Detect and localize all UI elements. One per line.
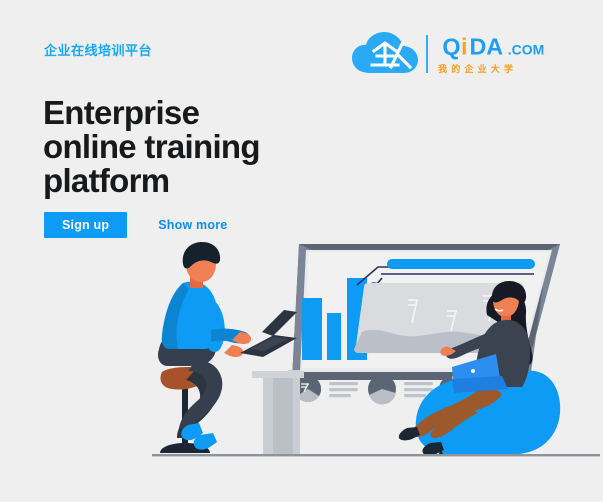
brand-logo[interactable]: Q i DA .COM 我的企业大学 [350, 28, 570, 80]
cta-row: Sign up Show more [44, 212, 227, 238]
logo-wordmark-group: Q i DA .COM 我的企业大学 [438, 33, 570, 75]
logo-divider [426, 35, 428, 73]
bar-1 [302, 298, 322, 360]
logo-subtitle: 我的企业大学 [438, 62, 570, 75]
woman-laptop-logo-icon [471, 369, 475, 373]
promo-banner: 企业在线培训平台 Enterprise online training plat… [0, 0, 603, 502]
svg-text:i: i [461, 33, 467, 59]
podium-body-light [263, 378, 273, 456]
bar-2 [327, 313, 341, 360]
sign-up-button[interactable]: Sign up [44, 212, 127, 238]
man-hand-2 [224, 345, 243, 357]
man-laptop-lid [262, 310, 297, 336]
qida-wordmark: Q i DA .COM [438, 33, 570, 61]
svg-text:DA: DA [469, 33, 503, 59]
header-pill-bar [387, 259, 535, 269]
headline-line-2: online training [43, 130, 323, 164]
headline-line-1: Enterprise [43, 96, 323, 130]
headline-line-3: platform [43, 164, 323, 198]
svg-text:.COM: .COM [508, 41, 545, 57]
svg-text:Q: Q [442, 33, 460, 59]
podium-top [252, 371, 304, 378]
placeholder-lines-1 [329, 382, 358, 397]
floor-line [152, 454, 600, 456]
eyebrow-label: 企业在线培训平台 [44, 40, 152, 59]
show-more-link[interactable]: Show more [158, 218, 227, 232]
cloud-logo-icon [350, 29, 420, 79]
woman-shoe-1 [399, 427, 420, 440]
page-title: Enterprise online training platform [43, 96, 323, 198]
